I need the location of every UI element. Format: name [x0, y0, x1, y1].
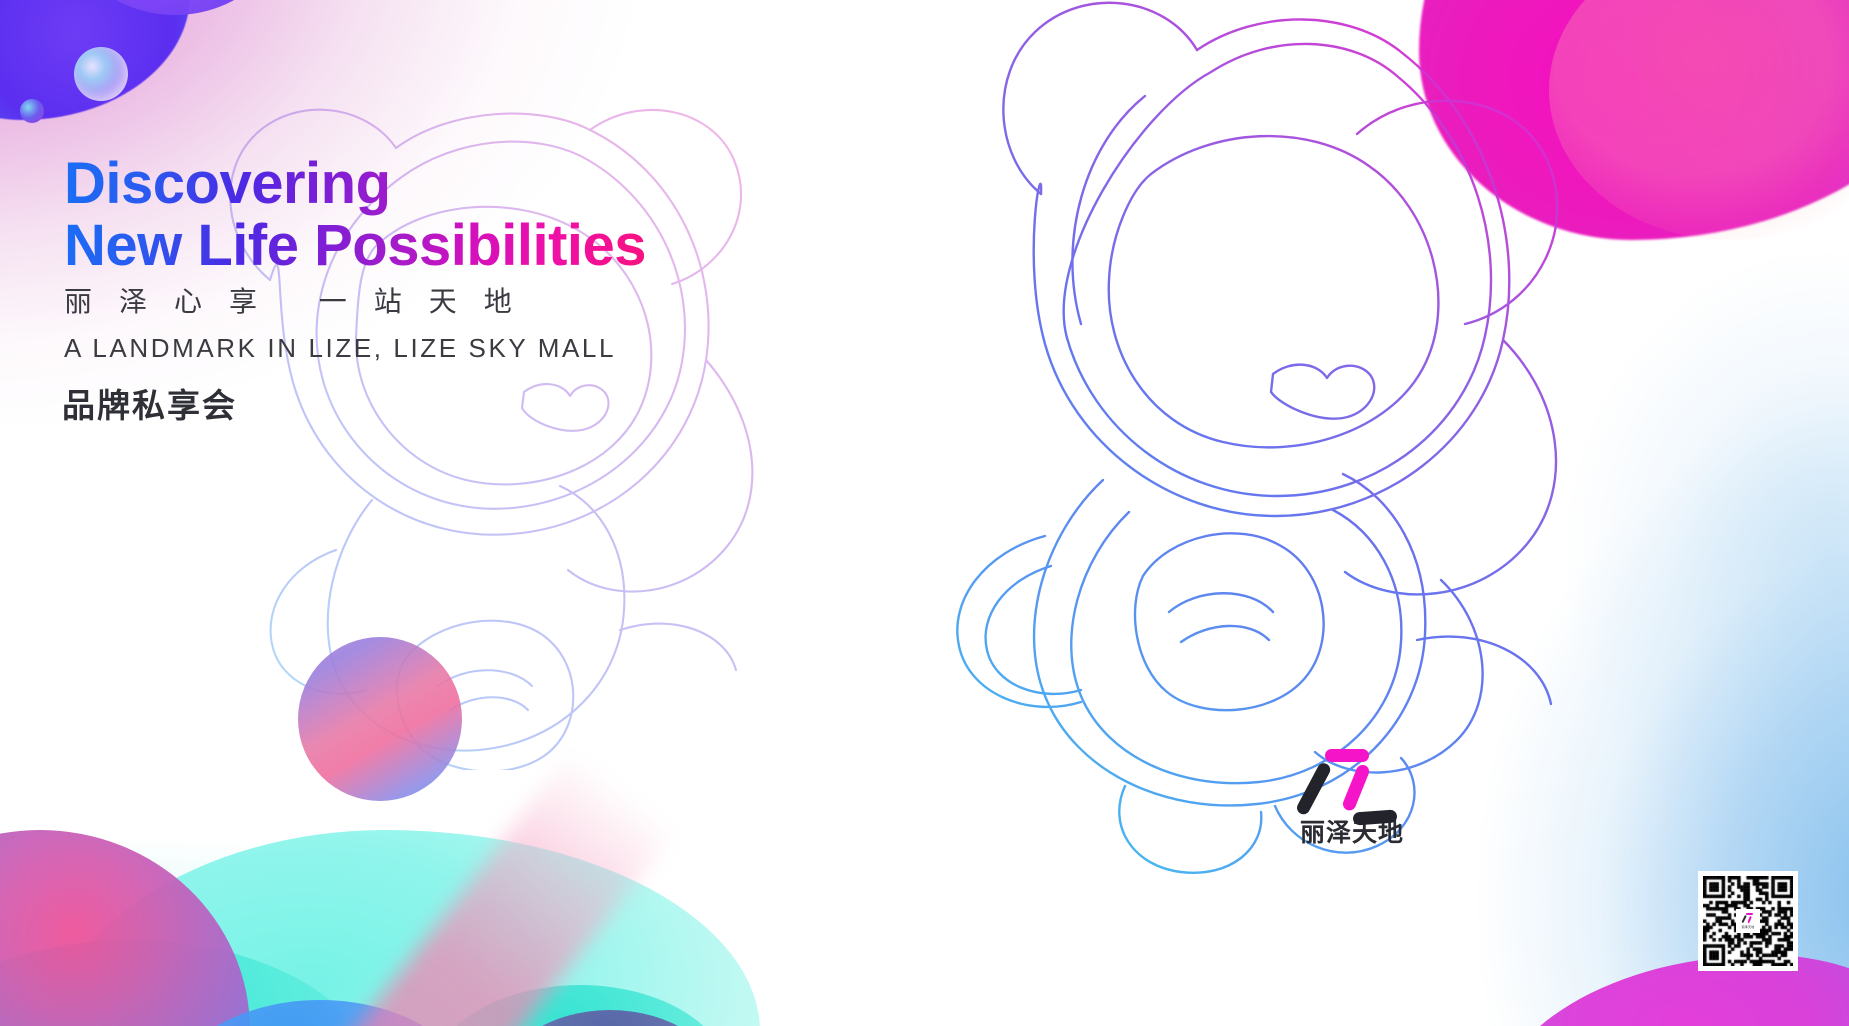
headline-line-2: New Life Possibilities [64, 215, 646, 277]
chinese-tagline: 丽泽心享 一站天地 [64, 280, 539, 320]
qr-logo-bar-c [1747, 916, 1752, 923]
bear-mascot-lineart-icon [845, 0, 1625, 880]
logo-bar-pink-diagonal [1341, 763, 1371, 812]
qr-code-icon[interactable]: 丽泽天地 [1698, 871, 1798, 971]
english-subtitle: A LANDMARK IN LIZE, LIZE SKY MALL [64, 333, 616, 364]
chinese-event-name: 品牌私享会 [62, 379, 237, 427]
qr-logo-bar-b [1741, 915, 1747, 923]
logo-bar-dark-diagonal [1295, 761, 1333, 817]
headline-line-1: Discovering [64, 153, 646, 215]
lize-sky-mall-logo-mark [1297, 745, 1407, 807]
brand-name: 丽泽天地 [1288, 813, 1416, 849]
decorative-sphere-gradient [298, 637, 462, 801]
page-title: Discovering New Life Possibilities [64, 153, 646, 277]
decorative-bubble-small [20, 99, 44, 123]
poster-canvas: Discovering New Life Possibilities 丽泽心享 … [0, 0, 1849, 1026]
qr-center-logo: 丽泽天地 [1736, 909, 1760, 933]
decorative-blob-purple-bottom-left [0, 830, 250, 1026]
brand-lockup: 丽泽天地 [1288, 745, 1416, 845]
logo-bar-pink-top [1325, 749, 1369, 762]
qr-center-label: 丽泽天地 [1742, 925, 1755, 929]
